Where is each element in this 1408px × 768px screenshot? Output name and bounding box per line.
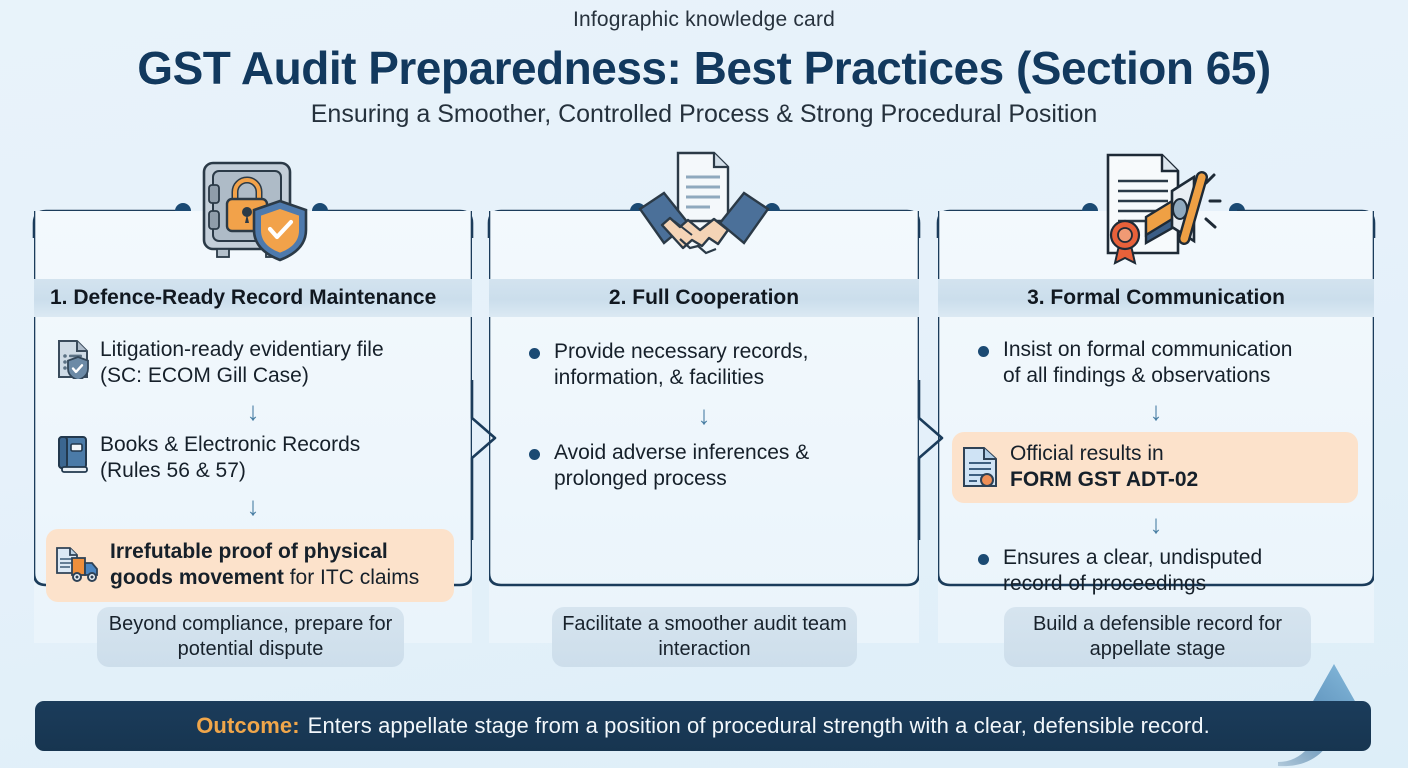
footer-tag-2: Facilitate a smoother audit team interac… [552,607,857,667]
bullet-dot [978,554,989,565]
bullet-dot [978,346,989,357]
list-item-line2: (Rules 56 & 57) [100,459,246,482]
list-item: Books & Electronic Records (Rules 56 & 5… [34,424,472,485]
list-item-line1: Books & Electronic Records [100,433,360,456]
highlight-callout: Irrefutable proof of physical goods move… [46,529,454,602]
outcome-text: Enters appellate stage from a position o… [308,713,1210,739]
highlight-line2-bold: FORM GST ADT-02 [1010,468,1198,491]
list-item-line2: prolonged process [554,467,727,490]
highlight-line1: Official results in [1010,442,1164,465]
infographic-canvas: Infographic knowledge card GST Audit Pre… [0,0,1408,768]
footer-tag-3: Build a defensible record for appellate … [1004,607,1311,667]
highlight-tail: for ITC claims [284,566,419,589]
list-item-line1: Avoid adverse inferences & [554,441,809,464]
card-3-band: 3. Formal Communication [938,279,1374,317]
page-title: GST Audit Preparedness: Best Practices (… [0,41,1408,95]
highlight-callout: Official results in FORM GST ADT-02 [952,432,1358,503]
list-item-text: Books & Electronic Records (Rules 56 & 5… [100,432,360,485]
list-item: Provide necessary records, information, … [489,321,919,392]
list-item: Insist on formal communication of all fi… [938,321,1374,390]
flow-arrow: ↓ [489,392,919,428]
list-item-text: Litigation-ready evidentiary file (SC: E… [100,337,384,390]
list-item-line2: record of proceedings [1003,572,1206,595]
list-item-line1: Provide necessary records, [554,340,808,363]
certificate-megaphone-icon [1088,149,1224,273]
outcome-label: Outcome: [196,713,299,739]
bullet-dot [529,348,540,359]
card-connector-notch-2-3 [905,380,965,540]
delivery-truck-document-icon [54,545,102,585]
card-2-body: Provide necessary records, information, … [489,321,919,493]
list-item-line1: Insist on formal communication [1003,338,1292,361]
card-3-title: 3. Formal Communication [938,286,1374,310]
bullet-dot [529,449,540,460]
official-document-seal-icon [960,445,1000,489]
page-subtitle: Ensuring a Smoother, Controlled Process … [0,100,1408,129]
handshake-document-icon [636,149,772,273]
list-item-line2: information, & facilities [554,366,764,389]
card-connector-notch-1-2 [455,380,515,540]
kicker-text: Infographic knowledge card [0,8,1408,32]
list-item-text: Avoid adverse inferences & prolonged pro… [554,440,809,493]
list-item-text: Ensures a clear, undisputed record of pr… [1003,545,1262,598]
list-item-line1: Ensures a clear, undisputed [1003,546,1262,569]
card-2-title: 2. Full Cooperation [489,286,919,310]
card-3-body: Insist on formal communication of all fi… [938,321,1374,598]
card-defence-ready-record-maintenance[interactable]: 1. Defence-Ready Record Maintenance [34,211,472,643]
list-item: Avoid adverse inferences & prolonged pro… [489,428,919,493]
document-shield-icon [56,339,90,379]
card-formal-communication[interactable]: 3. Formal Communication Insist on formal… [938,211,1374,643]
list-item: Ensures a clear, undisputed record of pr… [938,537,1374,598]
card-2-band: 2. Full Cooperation [489,279,919,317]
flow-arrow: ↓ [34,485,472,519]
card-full-cooperation[interactable]: 2. Full Cooperation Provide necessary re… [489,211,919,643]
outcome-bar: Outcome: Enters appellate stage from a p… [35,701,1371,751]
list-item-text: Provide necessary records, information, … [554,339,808,392]
highlight-text: Irrefutable proof of physical goods move… [110,539,444,592]
list-item: Litigation-ready evidentiary file (SC: E… [34,321,472,390]
card-1-body: Litigation-ready evidentiary file (SC: E… [34,321,472,602]
list-item-line2: of all findings & observations [1003,364,1270,387]
book-icon [56,434,90,474]
card-1-title: 1. Defence-Ready Record Maintenance [34,286,472,310]
list-item-line1: Litigation-ready evidentiary file [100,338,384,361]
safe-vault-shield-icon [182,149,318,273]
flow-arrow: ↓ [938,390,1374,424]
flow-arrow: ↓ [34,390,472,424]
footer-tag-1: Beyond compliance, prepare for potential… [97,607,404,667]
card-1-band: 1. Defence-Ready Record Maintenance [34,279,472,317]
list-item-line2: (SC: ECOM Gill Case) [100,364,309,387]
highlight-text: Official results in FORM GST ADT-02 [1010,441,1198,494]
flow-arrow: ↓ [938,503,1374,537]
list-item-text: Insist on formal communication of all fi… [1003,337,1292,390]
